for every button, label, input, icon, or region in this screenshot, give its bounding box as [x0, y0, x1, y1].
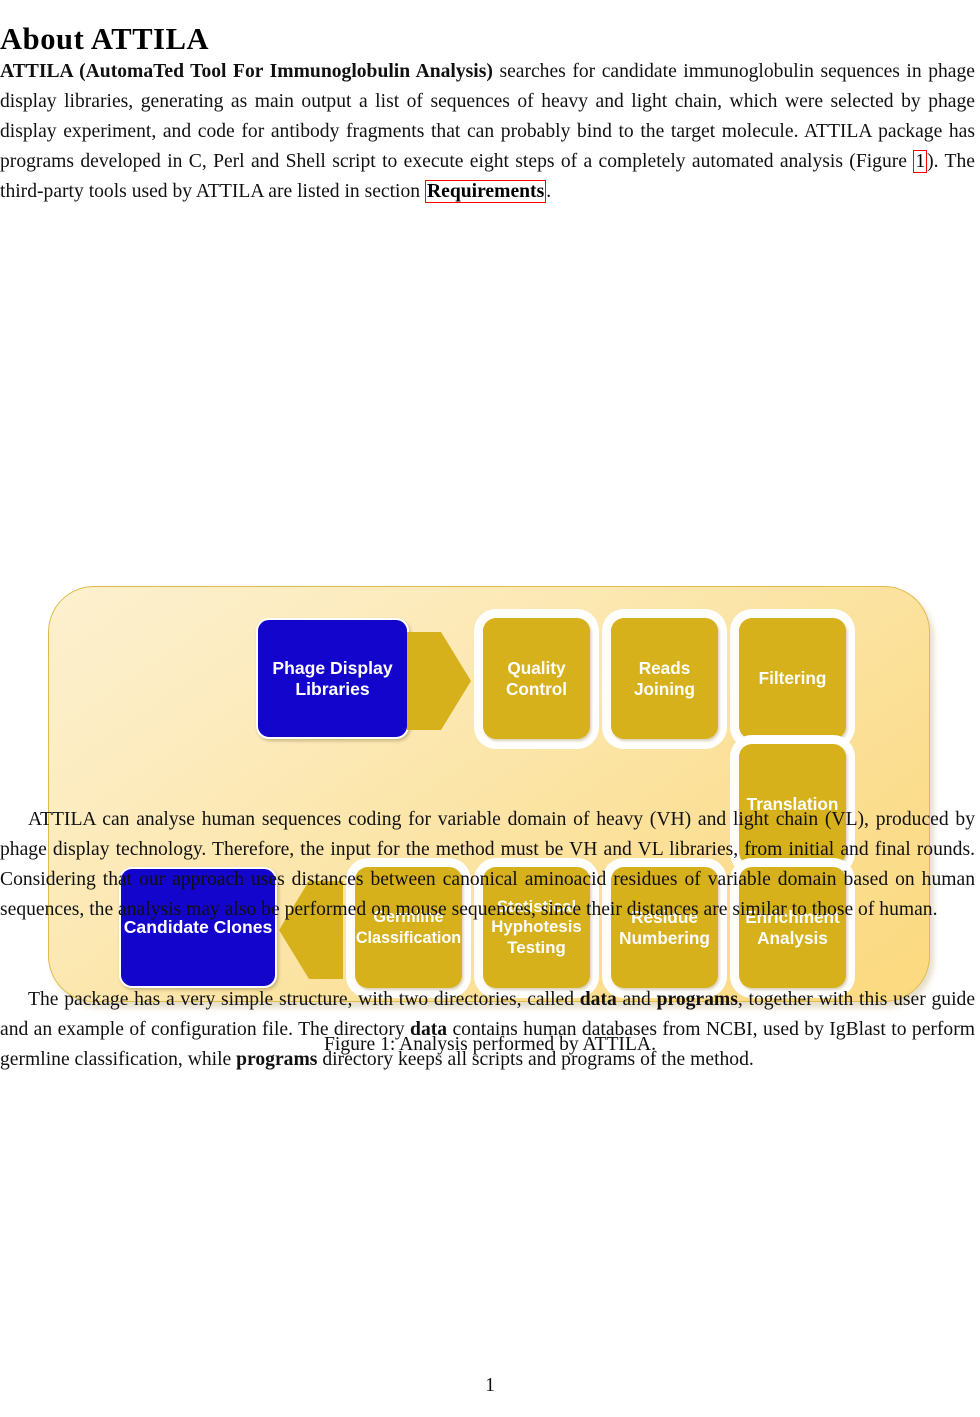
attila-acronym-bold: ATTILA (AutomaTed Tool For Immunoglobuli… [0, 61, 493, 82]
node-statistical-hyphotesis-testing-line3: Testing [507, 938, 565, 957]
paragraph-package-text-a: The package has a very simple structure,… [28, 989, 580, 1010]
paragraph-package-structure: The package has a very simple structure,… [0, 985, 975, 1075]
node-reads-joining-line2: Joining [634, 679, 695, 699]
paragraph-analysis: ATTILA can analyse human sequences codin… [0, 805, 975, 925]
figure-attila-workflow: Phage Display Libraries Quality Control [0, 290, 980, 780]
paragraph-intro: ATTILA (AutomaTed Tool For Immunoglobuli… [0, 57, 975, 207]
dir-programs-bold-2: programs [236, 1049, 317, 1070]
node-phage-display-libraries-line2: Libraries [295, 679, 369, 699]
node-germline-classification-line2: Classification [356, 929, 461, 947]
workflow-diagram-panel: Phage Display Libraries Quality Control [48, 586, 930, 1002]
node-reads-joining[interactable]: Reads Joining [611, 618, 718, 739]
page-title: About ATTILA [0, 22, 209, 56]
page-number: 1 [0, 1375, 980, 1397]
node-residue-numbering-line2: Numbering [619, 928, 710, 948]
node-filtering-label: Filtering [759, 668, 827, 689]
node-quality-control[interactable]: Quality Control [483, 618, 590, 739]
arrow-right-icon-top [407, 626, 473, 736]
paragraph-intro-text-c: . [546, 181, 551, 202]
dir-data-bold-1: data [580, 989, 617, 1010]
dir-programs-bold-1: programs [657, 989, 738, 1010]
node-filtering[interactable]: Filtering [739, 618, 846, 739]
node-phage-display-libraries[interactable]: Phage Display Libraries [256, 618, 409, 739]
paragraph-package-text-e: directory keeps all scripts and programs… [317, 1049, 753, 1070]
requirements-link[interactable]: Requirements [425, 180, 546, 203]
paragraph-package-text-b: and [617, 989, 657, 1010]
node-quality-control-line1: Quality [507, 658, 565, 678]
document-page: About ATTILA ATTILA (AutomaTed Tool For … [0, 0, 980, 1417]
dir-data-bold-2: data [410, 1019, 447, 1040]
node-quality-control-line2: Control [506, 679, 567, 699]
paragraph-analysis-text: ATTILA can analyse human sequences codin… [0, 809, 975, 920]
node-phage-display-libraries-line1: Phage Display [272, 658, 392, 678]
node-enrichment-analysis-line2: Analysis [757, 928, 828, 948]
node-reads-joining-line1: Reads [639, 658, 691, 678]
figure-link[interactable]: 1 [913, 150, 927, 173]
